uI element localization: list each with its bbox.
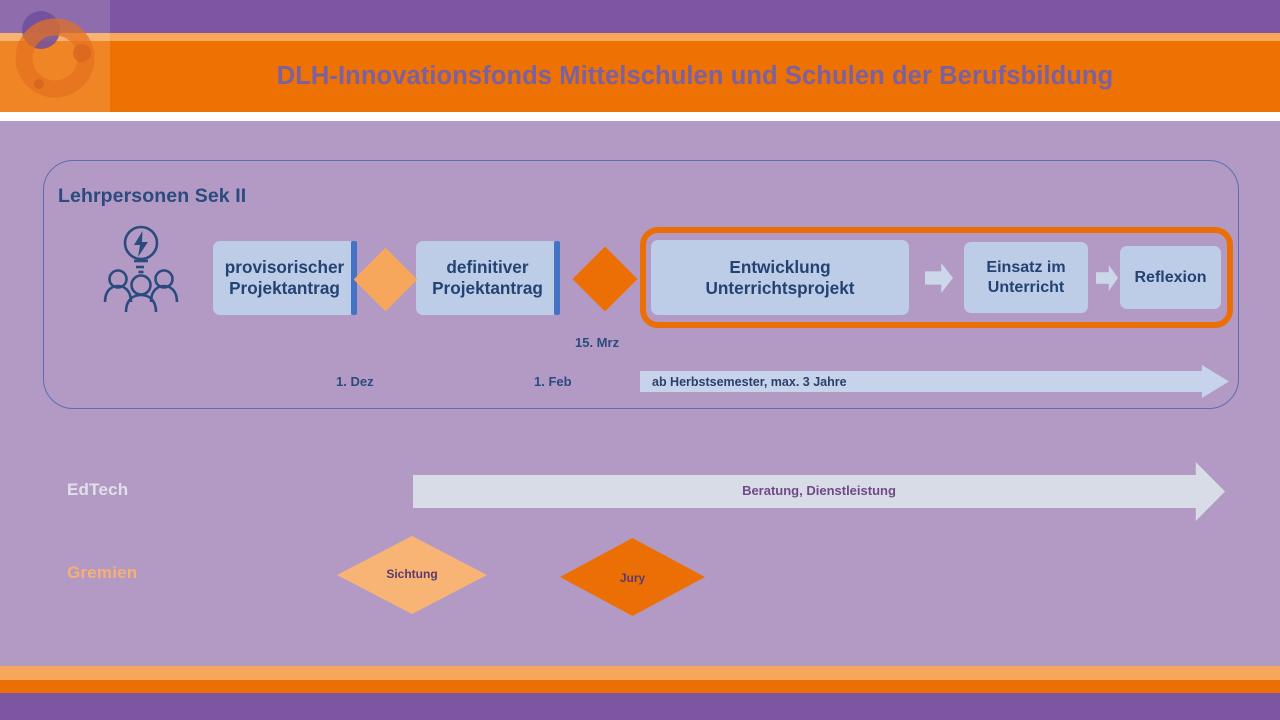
logo-container xyxy=(0,0,110,112)
flow-box-accent-bar xyxy=(554,241,560,315)
footer-light-orange-strip xyxy=(0,666,1280,680)
committee-diamond-sichtung[interactable]: Sichtung xyxy=(337,536,487,614)
lane-label-edtech: EdTech xyxy=(67,480,128,500)
timeline-date-1-dez: 1. Dez xyxy=(336,374,374,389)
milestone-diamond-sichtung[interactable] xyxy=(363,257,408,302)
flow-box-definitiver-projektantrag[interactable]: definitiverProjektantrag xyxy=(416,241,559,315)
page-title: DLH-Innovationsfonds Mittelschulen und S… xyxy=(110,41,1280,112)
diamond-shape xyxy=(572,246,637,311)
diamond-label: Sichtung xyxy=(386,567,437,581)
footer-orange-strip xyxy=(0,680,1280,693)
lane-label-gremien: Gremien xyxy=(67,563,137,583)
header-white-divider xyxy=(0,112,1280,121)
committee-diamond-jury[interactable]: Jury xyxy=(560,538,705,616)
flow-box-einsatz-im-unterricht[interactable]: Einsatz imUnterricht xyxy=(964,242,1088,313)
lightbulb-with-people-icon xyxy=(93,222,189,318)
ring-donut-logo-icon xyxy=(8,4,108,112)
flow-box-text: definitiverProjektantrag xyxy=(432,257,543,299)
header-light-orange-strip xyxy=(0,33,1280,41)
diamond-shape xyxy=(354,248,418,312)
flow-box-provisorischer-projektantrag[interactable]: provisorischerProjektantrag xyxy=(213,241,356,315)
timeline-arrow-herbstsemester: ab Herbstsemester, max. 3 Jahre xyxy=(640,365,1229,398)
flow-box-text: EntwicklungUnterrichtsprojekt xyxy=(706,257,855,299)
timeline-date-1-feb: 1. Feb xyxy=(534,374,572,389)
header-purple-strip xyxy=(0,0,1280,33)
flow-box-text: provisorischerProjektantrag xyxy=(225,257,344,299)
arrow-label: ab Herbstsemester, max. 3 Jahre xyxy=(652,375,847,389)
flow-box-text: Einsatz imUnterricht xyxy=(986,258,1065,297)
flow-box-reflexion[interactable]: Reflexion xyxy=(1120,246,1221,309)
diamond-label: Jury xyxy=(620,571,645,585)
flow-box-text: Reflexion xyxy=(1134,268,1206,288)
flow-box-entwicklung-unterrichtsprojekt[interactable]: EntwicklungUnterrichtsprojekt xyxy=(651,240,909,315)
footer-purple-strip xyxy=(0,693,1280,720)
slide-canvas: DLH-Innovationsfonds Mittelschulen und S… xyxy=(0,0,1280,720)
arrow-label: Beratung, Dienstleistung xyxy=(413,483,1225,498)
timeline-arrow-beratung-dienstleistung: Beratung, Dienstleistung xyxy=(413,462,1225,521)
timeline-date-15-mrz: 15. Mrz xyxy=(575,335,619,350)
lane-label-lehrpersonen: Lehrpersonen Sek II xyxy=(58,185,246,208)
milestone-diamond-jury[interactable] xyxy=(582,256,628,302)
